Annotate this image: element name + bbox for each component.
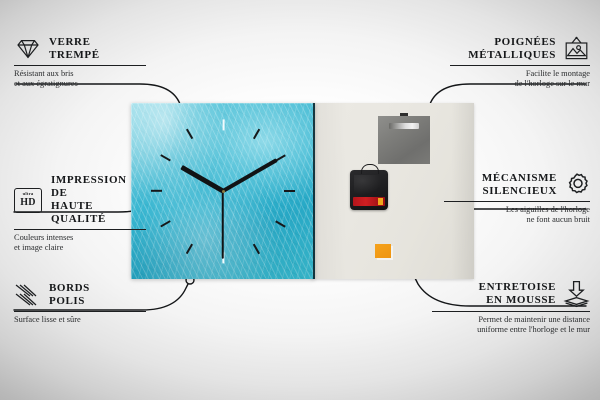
clock-second-hand	[222, 191, 224, 259]
mechanism-hanging-loop	[361, 164, 379, 174]
callout-handles-subtitle: Facilite le montage de l'horloge sur le …	[450, 69, 590, 90]
callout-foam-rule	[432, 311, 590, 312]
clock-glass-face	[131, 103, 315, 279]
callout-print-rule	[14, 229, 146, 230]
clock-center-cap	[222, 190, 225, 193]
callout-mechanism-subtitle: Les aiguilles de l'horloge ne font aucun…	[444, 205, 590, 226]
metal-hanging-bracket	[378, 116, 430, 164]
callout-foam: ENTRETOISE EN MOUSSE Permet de maintenir…	[432, 280, 590, 336]
bracket-slot	[389, 123, 419, 129]
mechanism-highlight	[354, 175, 382, 195]
gear-icon	[564, 172, 590, 198]
callout-handles-title: POIGNÉES MÉTALLIQUES	[468, 36, 556, 62]
infographic-canvas: VERRE TREMPÉ Résistant aux bris et aux é…	[0, 0, 600, 400]
bracket-nail	[400, 113, 408, 116]
callout-print-head: ultra HD IMPRESSION DE HAUTE QUALITÉ	[14, 174, 146, 226]
callout-mechanism-title: MÉCANISME SILENCIEUX	[482, 172, 557, 198]
callout-print-subtitle: Couleurs intenses et image claire	[14, 233, 146, 254]
callout-glass-head: VERRE TREMPÉ	[14, 36, 146, 62]
callout-handles: POIGNÉES MÉTALLIQUES Facilite le montage…	[450, 36, 590, 90]
clock-tick	[222, 119, 224, 130]
callout-edges-title: BORDS POLIS	[49, 282, 90, 308]
callout-edges-rule	[14, 311, 146, 312]
callout-foam-head: ENTRETOISE EN MOUSSE	[432, 280, 590, 308]
ultra-hd-badge-icon: ultra HD	[14, 188, 42, 213]
callout-glass-rule	[14, 65, 146, 66]
callout-edges-head: BORDS POLIS	[14, 282, 146, 308]
callout-mechanism-rule	[444, 201, 590, 202]
ultra-hd-badge-main: HD	[20, 198, 36, 208]
press-down-pad-icon	[563, 280, 590, 308]
mechanism-battery	[353, 197, 385, 206]
polished-edge-lines-icon	[14, 283, 40, 307]
clock-tick	[151, 190, 162, 192]
callout-print-title: IMPRESSION DE HAUTE QUALITÉ	[51, 174, 146, 226]
callout-foam-title: ENTRETOISE EN MOUSSE	[479, 281, 556, 307]
diamond-icon	[14, 38, 42, 60]
callout-foam-subtitle: Permet de maintenir une distance uniform…	[432, 315, 590, 336]
hanging-picture-frame-icon	[563, 36, 590, 62]
callout-handles-rule	[450, 65, 590, 66]
clock-mechanism	[350, 170, 388, 210]
callout-mechanism-head: MÉCANISME SILENCIEUX	[444, 172, 590, 198]
callout-mechanism: MÉCANISME SILENCIEUX Les aiguilles de l'…	[444, 172, 590, 226]
callout-edges: BORDS POLIS Surface lisse et sûre	[14, 282, 146, 325]
foam-spacer	[375, 244, 391, 258]
callout-handles-head: POIGNÉES MÉTALLIQUES	[450, 36, 590, 62]
callout-edges-subtitle: Surface lisse et sûre	[14, 315, 146, 325]
product-photo	[131, 103, 474, 279]
callout-glass-title: VERRE TREMPÉ	[49, 36, 100, 62]
callout-print: ultra HD IMPRESSION DE HAUTE QUALITÉ Cou…	[14, 174, 146, 254]
clock-tick	[284, 190, 295, 192]
callout-glass-subtitle: Résistant aux bris et aux égratignures	[14, 69, 146, 90]
callout-glass: VERRE TREMPÉ Résistant aux bris et aux é…	[14, 36, 146, 90]
